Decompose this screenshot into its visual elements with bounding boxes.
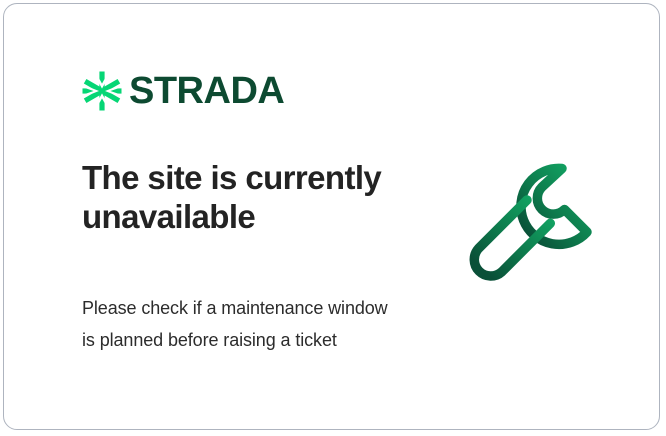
maintenance-illustration xyxy=(456,154,616,314)
page-title: The site is currently unavailable xyxy=(82,159,422,237)
brand-logo: STRADA xyxy=(82,68,442,114)
page-description: Please check if a maintenance window is … xyxy=(82,292,392,356)
status-card: STRADA The site is currently unavailable… xyxy=(3,3,660,430)
error-page: STRADA The site is currently unavailable… xyxy=(0,0,666,436)
wrench-icon xyxy=(456,154,616,314)
brand-wordmark: STRADA xyxy=(129,72,284,110)
card-content: STRADA The site is currently unavailable… xyxy=(82,68,442,114)
strada-asterisk-icon xyxy=(82,71,122,111)
